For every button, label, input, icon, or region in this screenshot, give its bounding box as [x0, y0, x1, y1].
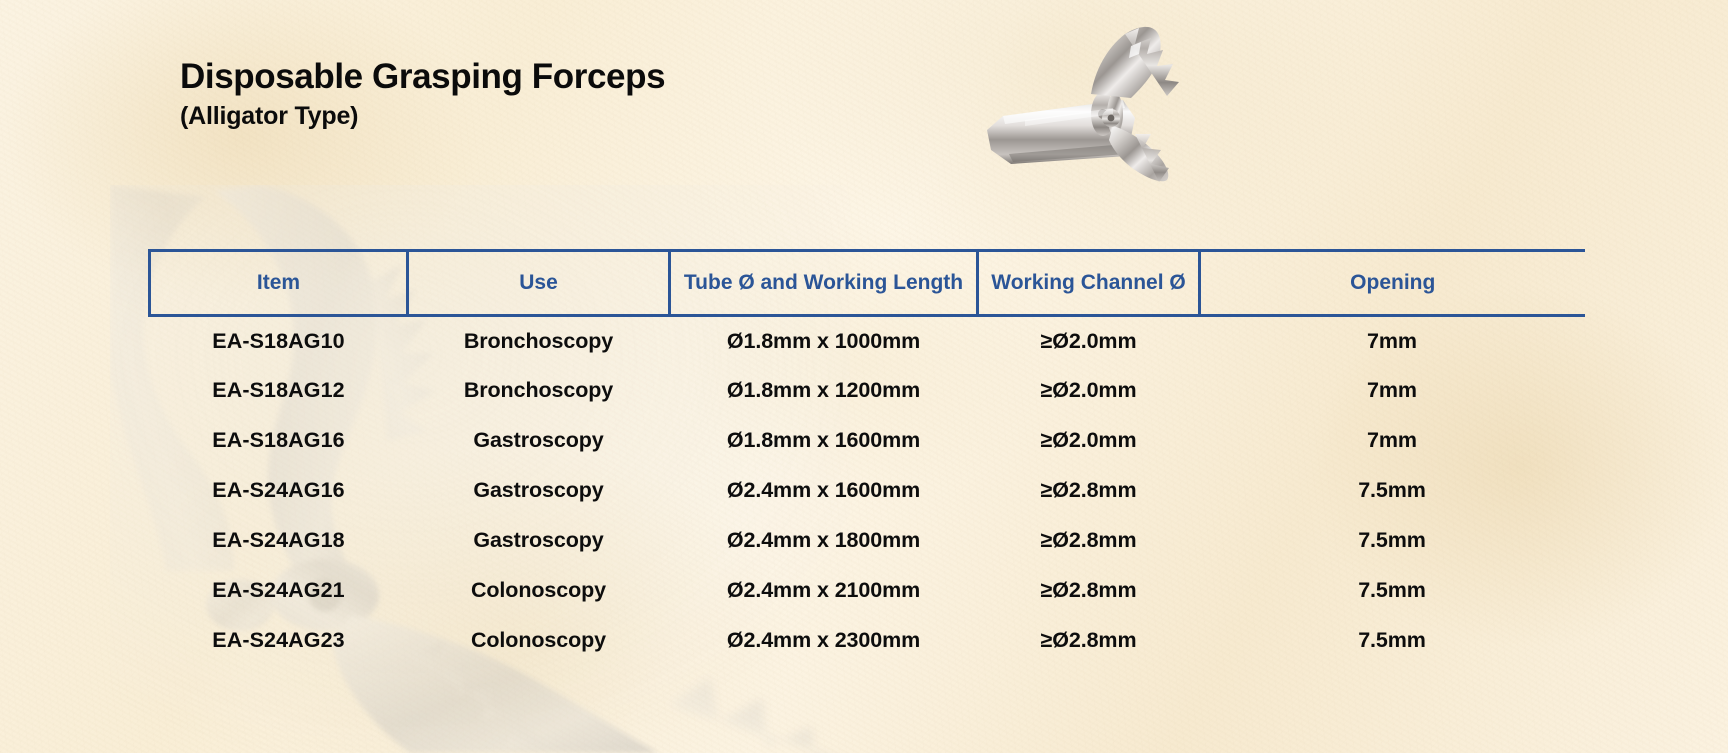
cell-opening: 7mm — [1200, 316, 1585, 366]
table-row: EA-S18AG10BronchoscopyØ1.8mm x 1000mm≥Ø2… — [150, 316, 1585, 366]
cell-use: Bronchoscopy — [408, 316, 670, 366]
cell-use: Gastroscopy — [408, 416, 670, 466]
cell-opening: 7.5mm — [1200, 516, 1585, 566]
cell-item: EA-S24AG16 — [150, 466, 408, 516]
column-header-use: Use — [408, 251, 670, 316]
cell-use: Colonoscopy — [408, 616, 670, 666]
column-header-item: Item — [150, 251, 408, 316]
page-title: Disposable Grasping Forceps — [180, 57, 665, 96]
cell-opening: 7.5mm — [1200, 566, 1585, 616]
cell-opening: 7.5mm — [1200, 466, 1585, 516]
cell-channel: ≥Ø2.0mm — [978, 416, 1200, 466]
column-header-tube: Tube Ø and Working Length — [670, 251, 978, 316]
cell-tube: Ø2.4mm x 1800mm — [670, 516, 978, 566]
cell-tube: Ø2.4mm x 1600mm — [670, 466, 978, 516]
cell-item: EA-S24AG23 — [150, 616, 408, 666]
cell-opening: 7mm — [1200, 366, 1585, 416]
table-header-row: Item Use Tube Ø and Working Length Worki… — [150, 251, 1585, 316]
forceps-product-image — [985, 22, 1185, 182]
table-row: EA-S24AG16GastroscopyØ2.4mm x 1600mm≥Ø2.… — [150, 466, 1585, 516]
cell-use: Colonoscopy — [408, 566, 670, 616]
cell-channel: ≥Ø2.8mm — [978, 516, 1200, 566]
cell-channel: ≥Ø2.0mm — [978, 366, 1200, 416]
cell-item: EA-S24AG21 — [150, 566, 408, 616]
table-row: EA-S24AG23ColonoscopyØ2.4mm x 2300mm≥Ø2.… — [150, 616, 1585, 666]
cell-item: EA-S18AG16 — [150, 416, 408, 466]
table-row: EA-S24AG21ColonoscopyØ2.4mm x 2100mm≥Ø2.… — [150, 566, 1585, 616]
cell-use: Gastroscopy — [408, 466, 670, 516]
table-row: EA-S18AG16GastroscopyØ1.8mm x 1600mm≥Ø2.… — [150, 416, 1585, 466]
cell-tube: Ø2.4mm x 2300mm — [670, 616, 978, 666]
page-subtitle: (Alligator Type) — [180, 102, 665, 131]
table-row: EA-S24AG18GastroscopyØ2.4mm x 1800mm≥Ø2.… — [150, 516, 1585, 566]
cell-use: Gastroscopy — [408, 516, 670, 566]
specifications-table: Item Use Tube Ø and Working Length Worki… — [148, 249, 1585, 666]
table-row: EA-S18AG12BronchoscopyØ1.8mm x 1200mm≥Ø2… — [150, 366, 1585, 416]
column-header-opening: Opening — [1200, 251, 1585, 316]
cell-opening: 7.5mm — [1200, 616, 1585, 666]
cell-tube: Ø1.8mm x 1200mm — [670, 366, 978, 416]
cell-opening: 7mm — [1200, 416, 1585, 466]
cell-tube: Ø1.8mm x 1600mm — [670, 416, 978, 466]
cell-tube: Ø1.8mm x 1000mm — [670, 316, 978, 366]
cell-item: EA-S24AG18 — [150, 516, 408, 566]
column-header-channel: Working Channel Ø — [978, 251, 1200, 316]
cell-item: EA-S18AG12 — [150, 366, 408, 416]
cell-channel: ≥Ø2.8mm — [978, 566, 1200, 616]
page-heading: Disposable Grasping Forceps (Alligator T… — [180, 57, 665, 131]
cell-channel: ≥Ø2.8mm — [978, 616, 1200, 666]
cell-channel: ≥Ø2.0mm — [978, 316, 1200, 366]
cell-use: Bronchoscopy — [408, 366, 670, 416]
cell-item: EA-S18AG10 — [150, 316, 408, 366]
cell-tube: Ø2.4mm x 2100mm — [670, 566, 978, 616]
cell-channel: ≥Ø2.8mm — [978, 466, 1200, 516]
